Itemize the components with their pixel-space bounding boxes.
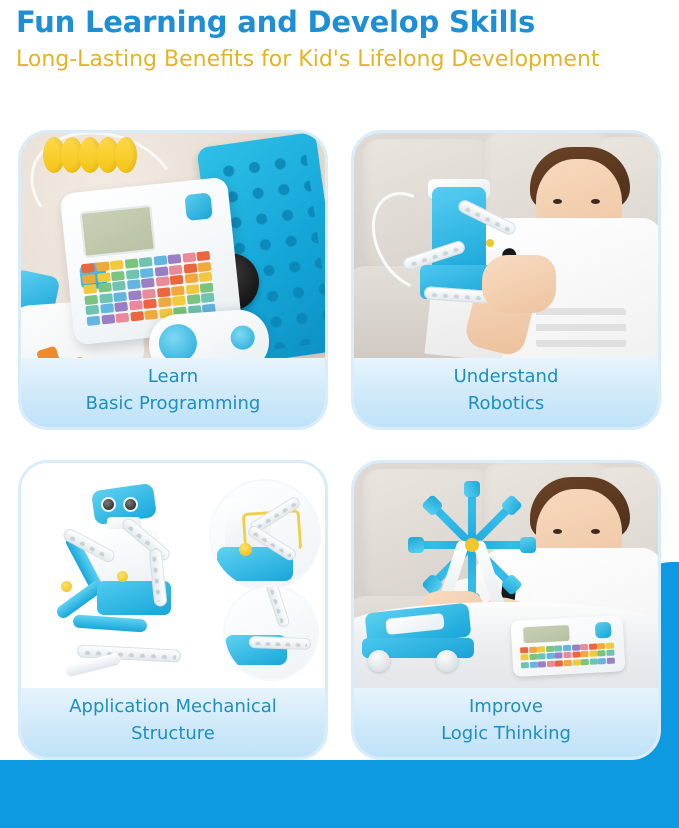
card-image-boy-with-ferris-wheel [354,463,658,688]
mechanical-robot-model [47,487,237,677]
key [546,653,554,659]
key [538,654,546,660]
key [529,661,537,667]
key [154,266,168,276]
inset2-beam-a [265,587,291,629]
feature-card-application-mechanical-structure[interactable]: Application Mechanical Structure [18,460,328,760]
robot-eye-left [101,497,116,512]
key [186,294,200,304]
inset-yellow-bolt [239,543,252,556]
card-caption: Improve Logic Thinking [354,688,658,757]
boy-eye-right [591,529,600,534]
key [124,258,138,268]
caption-line-1: Learn [148,364,198,390]
key [125,269,139,279]
key [82,273,96,283]
key [200,282,214,292]
key [155,276,169,286]
blue-robot-car [358,602,480,674]
key [547,661,555,667]
detail-inset-bottom [225,587,317,679]
car-wheel-front [368,650,390,672]
caption-line-2: Basic Programming [86,391,261,417]
key [589,651,597,657]
key [572,652,580,658]
key [538,661,546,667]
key [101,314,115,324]
key [83,284,97,294]
key [572,659,580,665]
key [555,660,563,666]
card-image-programming-controller [21,133,325,358]
key [126,279,140,289]
key [130,311,144,321]
card-image-robot-structure [21,463,325,688]
caption-line-1: Understand [454,364,559,390]
key [196,251,210,261]
key [606,650,614,656]
key [201,293,215,303]
key [529,654,537,660]
orange-block-small [67,356,87,358]
key [128,290,142,300]
feature-card-improve-logic-thinking[interactable]: Improve Logic Thinking [351,460,661,760]
promo-banner: Fun Learning and Develop Skills Long-Las… [0,0,679,828]
controller-lcd [523,625,570,643]
key [157,297,171,307]
key [554,645,562,651]
boy-eye-right [591,199,600,204]
key [520,654,528,660]
key [185,284,199,294]
key [98,282,112,292]
key [555,653,563,659]
robot-yellow-bolt [486,239,494,247]
feature-card-understand-robotics[interactable]: Understand Robotics [351,130,661,430]
dpad-right-icon [184,192,213,221]
key [111,270,125,280]
page-title: Fun Learning and Develop Skills [16,6,663,38]
key [581,659,589,665]
key [537,646,545,652]
key [114,302,128,312]
key [129,300,143,310]
key [182,252,196,262]
key [100,303,114,313]
card-caption: Learn Basic Programming [21,358,325,427]
key [139,257,153,267]
page-subtitle: Long-Lasting Benefits for Kid's Lifelong… [16,45,663,74]
key [95,261,109,271]
ferris-hub [465,538,479,552]
detail-inset-top [211,481,319,589]
caption-line-1: Improve [469,694,543,720]
inset2-beam-b [249,636,311,650]
key [597,643,605,649]
key [156,287,170,297]
key [184,273,198,283]
key [81,263,95,273]
boy-eye-left [553,199,562,204]
key [563,652,571,658]
key [197,261,211,271]
key [572,644,580,650]
key [581,651,589,657]
key [140,267,154,277]
key [183,263,197,273]
feature-card-grid: Learn Basic Programming [18,130,661,760]
key [598,650,606,656]
key [169,264,183,274]
key [170,275,184,285]
bottom-blue-band [0,760,679,828]
blue-robot-model [398,177,530,327]
header: Fun Learning and Develop Skills Long-Las… [0,0,679,75]
key [141,278,155,288]
lcd-screen [80,205,156,258]
controller-keypad [520,642,617,671]
key [521,662,529,668]
key [563,645,571,651]
orange-block [36,345,61,358]
caption-line-2: Logic Thinking [441,721,571,747]
card-image-boy-with-robot [354,133,658,358]
key [86,315,100,325]
card-caption: Application Mechanical Structure [21,688,325,757]
key [115,312,129,322]
key [96,272,110,282]
card-caption: Understand Robotics [354,358,658,427]
key [564,660,572,666]
key [99,293,113,303]
caption-line-2: Robotics [468,391,544,417]
feature-card-learn-basic-programming[interactable]: Learn Basic Programming [18,130,328,430]
robot-body [432,187,486,275]
key [199,272,213,282]
key [110,260,124,270]
yellow-bolt-b [117,571,128,582]
boy-eye-left [553,529,562,534]
key [112,281,126,291]
key [172,296,186,306]
key [153,255,167,265]
yellow-coil-group [43,137,147,177]
key [606,643,614,649]
key [589,643,597,649]
key [142,288,156,298]
key [143,299,157,309]
key [113,291,127,301]
blue-beam-c [73,614,148,632]
programming-controller-on-table [511,615,626,677]
key [546,646,554,652]
boy-hand [482,255,556,313]
key [520,647,528,653]
key [529,647,537,653]
key [580,644,588,650]
key [167,254,181,264]
key [171,285,185,295]
key [84,294,98,304]
caption-line-1: Application Mechanical [69,694,277,720]
key [589,658,597,664]
yellow-bolt-a [61,581,72,592]
tshirt-graphic [536,308,626,348]
robot-eye-right [123,497,138,512]
car-wheel-rear [436,650,458,672]
key [144,309,158,319]
key [607,657,615,663]
key [85,305,99,315]
key [598,658,606,664]
caption-line-2: Structure [131,721,215,747]
controller-dpad-icon [595,622,612,639]
